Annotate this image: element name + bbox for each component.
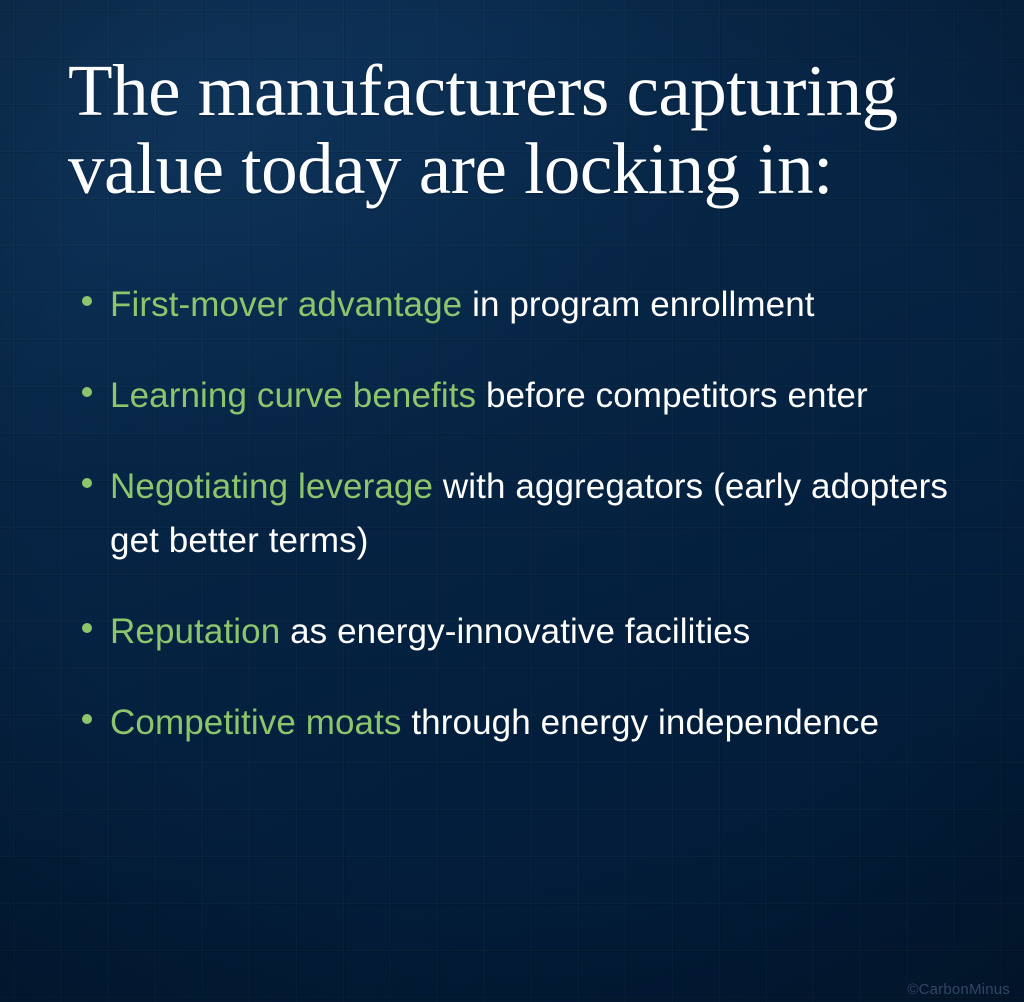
list-item: Competitive moats through energy indepen… (78, 696, 958, 749)
bullet-dot-icon (82, 387, 92, 397)
bullet-highlight-text: Learning curve benefits (110, 376, 476, 415)
bullet-highlight-text: Competitive moats (110, 703, 402, 742)
list-item: First-mover advantage in program enrollm… (78, 278, 958, 331)
bullet-highlight-text: Negotiating leverage (110, 467, 433, 506)
bullet-list: First-mover advantage in program enrollm… (78, 278, 958, 749)
bullet-highlight-text: First-mover advantage (110, 285, 462, 324)
bullet-dot-icon (82, 714, 92, 724)
list-item: Learning curve benefits before competito… (78, 369, 958, 422)
bullet-body-text: through energy independence (402, 703, 880, 742)
copyright-watermark: ©CarbonMinus (907, 981, 1010, 998)
bullet-body-text: before competitors enter (476, 376, 868, 415)
bullet-dot-icon (82, 623, 92, 633)
bullet-dot-icon (82, 478, 92, 488)
list-item: Reputation as energy-innovative faciliti… (78, 605, 958, 658)
page-title: The manufacturers capturing value today … (68, 52, 948, 208)
list-item: Negotiating leverage with aggregators (e… (78, 460, 958, 566)
slide-content: The manufacturers capturing value today … (0, 0, 1024, 1002)
bullet-body-text: in program enrollment (462, 285, 814, 324)
bullet-dot-icon (82, 296, 92, 306)
bullet-highlight-text: Reputation (110, 612, 280, 651)
slide-canvas: The manufacturers capturing value today … (0, 0, 1024, 1002)
bullet-body-text: as energy-innovative facilities (280, 612, 750, 651)
